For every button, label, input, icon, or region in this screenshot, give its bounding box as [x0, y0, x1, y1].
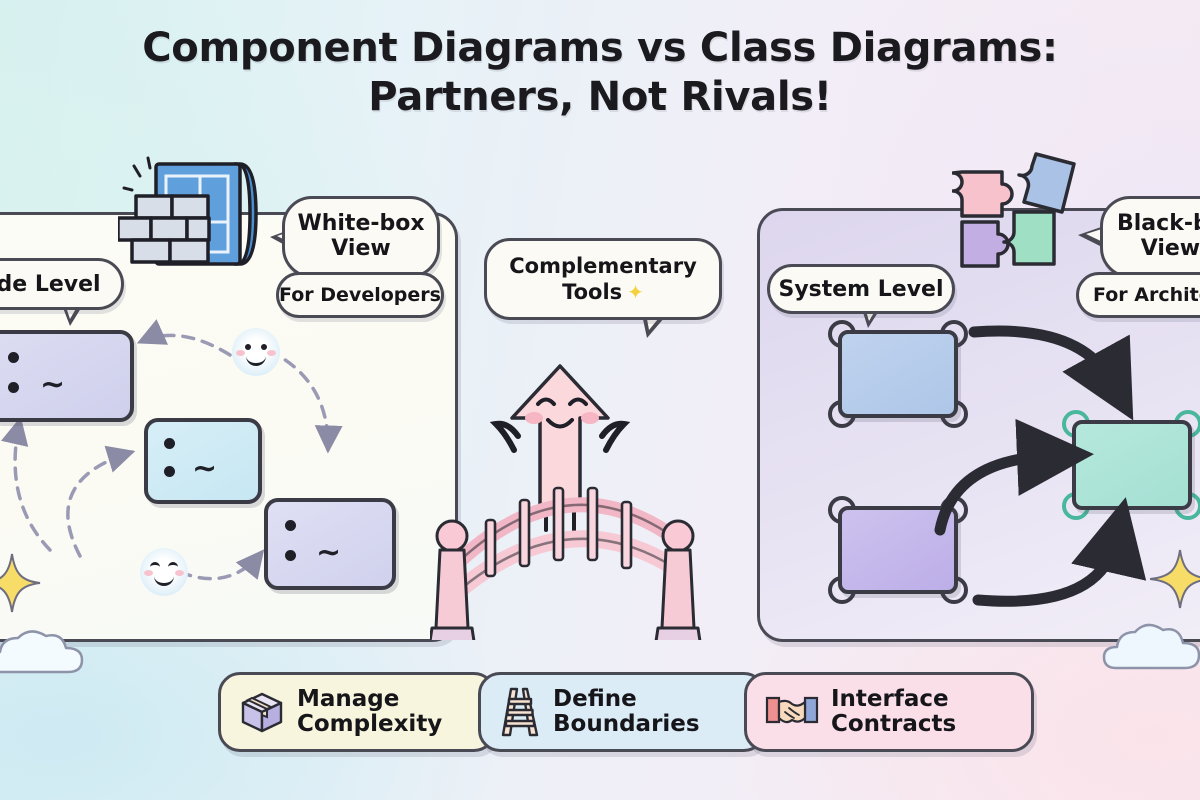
class-attribute-dot: [8, 382, 19, 393]
smile-mouth: [154, 572, 174, 586]
smile-mouth: [246, 352, 266, 366]
cloud-left-icon: [0, 616, 102, 686]
class-attribute-dot: [285, 550, 296, 561]
poster-canvas: Component Diagrams vs Class Diagrams: Pa…: [0, 0, 1200, 800]
cheek-blush: [144, 570, 153, 576]
class-method-squiggle: ∼: [192, 454, 217, 484]
cheek-blush: [267, 350, 276, 356]
class-attribute-dot: [285, 520, 296, 531]
handshake-icon: [765, 690, 819, 734]
ladder-icon: [499, 687, 541, 737]
label-system-level: System Level: [767, 264, 955, 314]
badge-manage-line-1: Manage: [297, 687, 442, 712]
badge-define-label: Define Boundaries: [553, 687, 700, 737]
badge-interface-contracts[interactable]: Interface Contracts: [744, 672, 1034, 752]
eye-icon: [150, 562, 160, 571]
white-box-line-2: View: [297, 237, 424, 262]
smiley-face-2: [140, 548, 188, 596]
badge-interface-label: Interface Contracts: [831, 687, 956, 737]
label-white-box-view: White-box View: [282, 196, 440, 278]
class-box-1[interactable]: ∼: [0, 330, 134, 422]
label-code-level: ode Level: [0, 258, 124, 310]
badge-interface-line-1: Interface: [831, 687, 956, 712]
class-attribute-dot: [164, 438, 175, 449]
box-package-icon: [239, 689, 285, 735]
title-line-2: Partners, Not Rivals!: [0, 73, 1200, 122]
bridge-with-arrow-character: [430, 360, 780, 640]
badge-manage-complexity[interactable]: Manage Complexity: [218, 672, 496, 752]
eye-icon: [245, 344, 251, 350]
smiley-face-1: [232, 328, 280, 376]
label-complementary-tools: Complementary Tools✦: [484, 238, 722, 320]
component-connector-arrows: [930, 310, 1200, 620]
class-attribute-dot: [8, 352, 19, 363]
badge-manage-line-2: Complexity: [297, 712, 442, 737]
label-for-developers: For Developers: [276, 272, 444, 318]
eye-icon: [261, 344, 267, 350]
class-attribute-dot: [164, 466, 175, 477]
label-black-box-view: Black-bo View: [1100, 196, 1200, 278]
badge-define-line-2: Boundaries: [553, 712, 700, 737]
label-for-architects: For Archite: [1076, 272, 1200, 318]
class-method-squiggle: ∼: [316, 538, 341, 568]
complementary-line-1: Complementary: [509, 254, 697, 278]
class-box-2[interactable]: ∼: [144, 418, 262, 504]
complementary-line-2: Tools: [562, 280, 622, 304]
cheek-blush: [175, 570, 184, 576]
cloud-right-icon: [1098, 610, 1200, 682]
class-method-squiggle: ∼: [40, 370, 65, 400]
cheek-blush: [236, 350, 245, 356]
white-box-line-1: White-box: [297, 212, 424, 237]
page-title: Component Diagrams vs Class Diagrams: Pa…: [0, 24, 1200, 122]
black-box-line-2: View: [1117, 237, 1200, 262]
sparkle-icon: ✦: [627, 280, 644, 304]
badge-define-line-1: Define: [553, 687, 700, 712]
badge-interface-line-2: Contracts: [831, 712, 956, 737]
blueprint-bricks-icon: [118, 152, 268, 277]
class-box-3[interactable]: ∼: [264, 498, 396, 590]
puzzle-pieces-icon: [952, 148, 1092, 280]
complementary-line-2-row: Tools✦: [562, 280, 644, 304]
badge-manage-label: Manage Complexity: [297, 687, 442, 737]
title-line-1: Component Diagrams vs Class Diagrams:: [142, 25, 1057, 71]
badge-define-boundaries[interactable]: Define Boundaries: [478, 672, 766, 752]
black-box-line-1: Black-bo: [1117, 212, 1200, 237]
